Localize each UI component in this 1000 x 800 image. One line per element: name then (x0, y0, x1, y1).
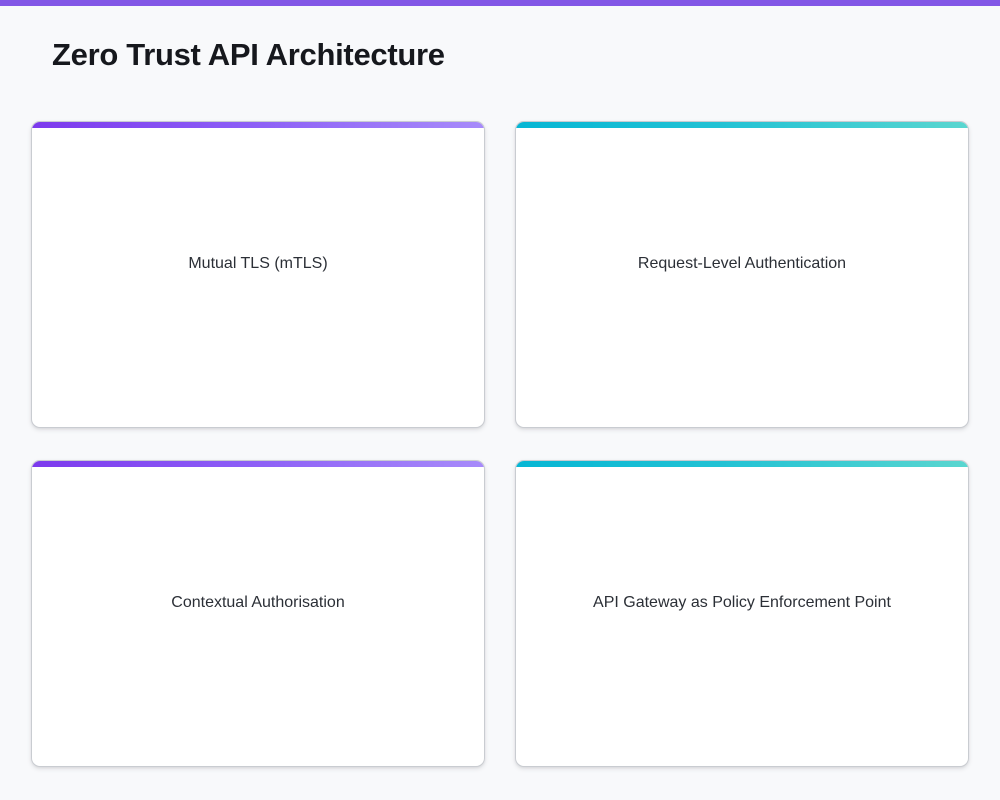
card-grid: Mutual TLS (mTLS) Request-Level Authenti… (31, 121, 969, 767)
card-body: Contextual Authorisation (32, 467, 484, 766)
card-api-gateway-policy-enforcement-point[interactable]: API Gateway as Policy Enforcement Point (515, 460, 969, 767)
slide-canvas: Zero Trust API Architecture Mutual TLS (… (0, 0, 1000, 800)
card-title: Request-Level Authentication (516, 253, 968, 427)
card-body: Request-Level Authentication (516, 128, 968, 427)
card-mutual-tls[interactable]: Mutual TLS (mTLS) (31, 121, 485, 428)
card-request-level-authentication[interactable]: Request-Level Authentication (515, 121, 969, 428)
card-title: Contextual Authorisation (32, 592, 484, 766)
card-title: Mutual TLS (mTLS) (32, 253, 484, 427)
top-accent-bar (0, 0, 1000, 6)
card-body: Mutual TLS (mTLS) (32, 128, 484, 427)
card-contextual-authorisation[interactable]: Contextual Authorisation (31, 460, 485, 767)
card-body: API Gateway as Policy Enforcement Point (516, 467, 968, 766)
card-title: API Gateway as Policy Enforcement Point (516, 592, 968, 766)
page-title: Zero Trust API Architecture (52, 33, 445, 77)
